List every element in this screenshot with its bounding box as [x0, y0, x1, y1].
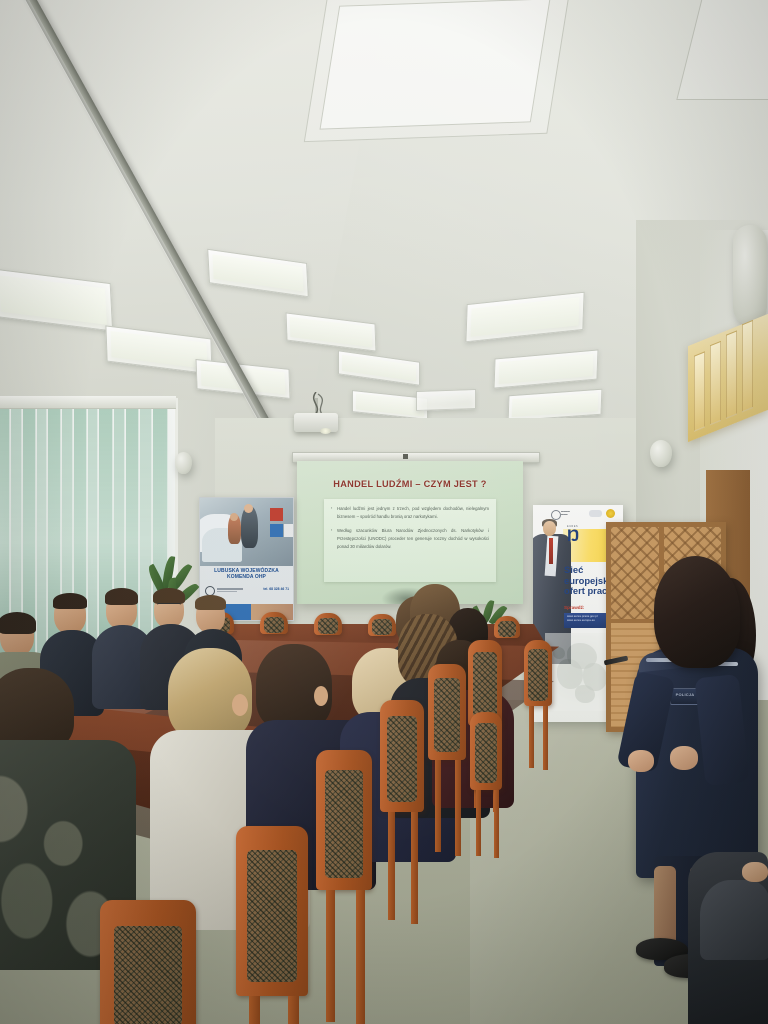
eyeglasses-icon [157, 603, 181, 609]
poster-photo [200, 498, 293, 566]
wall-speaker [733, 225, 767, 325]
hand-right [670, 746, 698, 770]
screen-housing-bracket [403, 454, 408, 459]
projection-screen: HANDEL LUDŹMI – CZYM JEST ? Handel ludźm… [297, 461, 523, 604]
poster-title: LUBUSKA WOJEWÓDZKA KOMENDA OHP [200, 568, 293, 581]
wall-speaker [650, 440, 672, 467]
ministry-logo-icon [217, 588, 243, 590]
leg-left [654, 866, 676, 948]
slide-body: Handel ludźmi jest jednym z trzech, pod … [324, 499, 496, 582]
poster-phone: tel. 68 328 46 71 [263, 587, 289, 591]
banner-cta: Sprawdź: [564, 605, 584, 610]
eures-logo: Ŋ [567, 527, 589, 551]
slide-bullet: Handel ludźmi jest jednym z trzech, pod … [331, 505, 489, 521]
projector-lens [320, 428, 331, 434]
wall-speaker [175, 452, 192, 474]
blinds-headrail [0, 396, 176, 409]
slide-title: HANDEL LUDŹMI – CZYM JEST ? [297, 479, 523, 489]
recessed-ceiling-light [416, 389, 476, 411]
poster-logo-row [205, 586, 249, 595]
ceiling-tile [319, 0, 550, 130]
eu-logo-icon [606, 509, 615, 518]
ministry-label: ▬▬▬▬▬▬▬ [561, 511, 587, 517]
ceiling-projector [294, 413, 338, 432]
police-badge-text: POLICJA [672, 692, 698, 697]
ear [232, 694, 248, 716]
hand-left [628, 750, 654, 772]
ohp-logo-icon [589, 510, 602, 517]
ministry-logo-line [217, 591, 237, 593]
ear [314, 686, 328, 706]
hand [742, 862, 768, 882]
hair [654, 556, 740, 668]
knee [700, 880, 768, 960]
slide-bullet: Według szacunków Biura Narodów Zjednoczo… [331, 527, 489, 551]
poster-title-line-2: KOMENDA OHP [200, 574, 293, 580]
photo-scene: HANDEL LUDŹMI – CZYM JEST ? Handel ludźm… [0, 0, 768, 1024]
